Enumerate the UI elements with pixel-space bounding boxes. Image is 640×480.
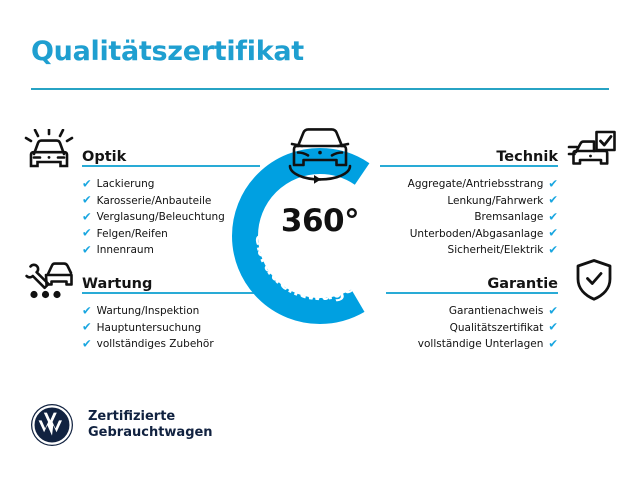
list-item: ✔Innenraum: [82, 242, 232, 259]
list-item-label: Unterboden/Abgasanlage: [410, 226, 544, 243]
section-technik: Technik Aggregate/Antriebsstrang✔ Lenkun…: [398, 141, 558, 259]
check-icon: ✔: [82, 305, 92, 317]
list-item-label: Lackierung: [97, 176, 155, 193]
section-optik-title: Optik: [82, 149, 126, 165]
section-garantie-divider: [398, 292, 558, 294]
vw-logo-icon: [29, 402, 75, 448]
list-item-label: vollständiges Zubehör: [97, 336, 214, 353]
car-checkbox-icon: [567, 129, 617, 179]
check-icon: ✔: [82, 195, 92, 207]
check-icon: ✔: [548, 195, 558, 207]
footer-line-1: Zertifizierte: [88, 409, 175, 424]
list-item-label: Lenkung/Fahrwerk: [447, 193, 543, 210]
section-garantie-header: Garantie: [398, 268, 558, 294]
badge-center-text: 360°: [232, 203, 408, 239]
section-wartung-divider: [82, 292, 232, 294]
list-item-label: Bremsanlage: [474, 209, 543, 226]
check-icon: ✔: [548, 244, 558, 256]
list-item-label: Karosserie/Anbauteile: [97, 193, 212, 210]
list-item: Unterboden/Abgasanlage✔: [398, 226, 558, 243]
list-item: Bremsanlage✔: [398, 209, 558, 226]
check-icon: ✔: [548, 178, 558, 190]
footer-brand-text: Zertifizierte Gebrauchtwagen: [88, 409, 213, 441]
list-item: Sicherheit/Elektrik✔: [398, 242, 558, 259]
wrench-car-icon: [24, 257, 74, 307]
check-icon: ✔: [548, 211, 558, 223]
check-icon: ✔: [82, 338, 92, 350]
section-wartung-header: Wartung: [82, 268, 232, 294]
list-item: ✔Lackierung: [82, 176, 232, 193]
list-item-label: Felgen/Reifen: [97, 226, 168, 243]
list-item: Garantienachweis✔: [398, 303, 558, 320]
car-shine-icon: [24, 129, 74, 179]
check-icon: ✔: [82, 178, 92, 190]
list-item-label: vollständige Unterlagen: [418, 336, 544, 353]
certificate-page: Qualitätszertifikat: [0, 0, 640, 480]
list-item-label: Aggregate/Antriebsstrang: [408, 176, 544, 193]
list-item-label: Innenraum: [97, 242, 154, 259]
list-item-label: Qualitätszertifikat: [450, 320, 544, 337]
section-technik-title: Technik: [496, 149, 558, 165]
section-garantie: Garantie Garantienachweis✔ Qualitätszert…: [398, 268, 558, 353]
section-wartung: Wartung ✔Wartung/Inspektion ✔Hauptunters…: [82, 268, 232, 353]
list-item: ✔Wartung/Inspektion: [82, 303, 232, 320]
page-title: Qualitätszertifikat: [31, 36, 304, 67]
car-front-rotate-icon: [278, 122, 362, 194]
check-icon: ✔: [82, 322, 92, 334]
check-icon: ✔: [82, 228, 92, 240]
check-icon: ✔: [82, 211, 92, 223]
shield-check-icon: [574, 258, 614, 306]
list-item: ✔Karosserie/Anbauteile: [82, 193, 232, 210]
section-technik-list: Aggregate/Antriebsstrang✔ Lenkung/Fahrwe…: [398, 176, 558, 259]
list-item-label: Hauptuntersuchung: [97, 320, 202, 337]
section-optik: Optik ✔Lackierung ✔Karosserie/Anbauteile…: [82, 141, 232, 259]
list-item-label: Garantienachweis: [449, 303, 543, 320]
section-technik-divider: [398, 165, 558, 167]
list-item: ✔vollständiges Zubehör: [82, 336, 232, 353]
check-icon: ✔: [548, 228, 558, 240]
list-item-label: Wartung/Inspektion: [97, 303, 200, 320]
footer-line-2: Gebrauchtwagen: [88, 425, 213, 440]
section-wartung-title: Wartung: [82, 276, 152, 292]
title-divider: [31, 88, 609, 90]
list-item-label: Verglasung/Beleuchtung: [97, 209, 225, 226]
list-item: Lenkung/Fahrwerk✔: [398, 193, 558, 210]
section-optik-list: ✔Lackierung ✔Karosserie/Anbauteile ✔Verg…: [82, 176, 232, 259]
list-item: Aggregate/Antriebsstrang✔: [398, 176, 558, 193]
section-wartung-list: ✔Wartung/Inspektion ✔Hauptuntersuchung ✔…: [82, 303, 232, 353]
list-item: ✔Hauptuntersuchung: [82, 320, 232, 337]
check-icon: ✔: [82, 244, 92, 256]
section-optik-divider: [82, 165, 232, 167]
check-icon: ✔: [548, 338, 558, 350]
check-icon: ✔: [548, 305, 558, 317]
section-garantie-list: Garantienachweis✔ Qualitätszertifikat✔ v…: [398, 303, 558, 353]
footer-brand: Zertifizierte Gebrauchtwagen: [29, 402, 213, 448]
section-optik-header: Optik: [82, 141, 232, 167]
list-item: ✔Verglasung/Beleuchtung: [82, 209, 232, 226]
list-item: ✔Felgen/Reifen: [82, 226, 232, 243]
list-item: vollständige Unterlagen✔: [398, 336, 558, 353]
list-item: Qualitätszertifikat✔: [398, 320, 558, 337]
section-technik-header: Technik: [398, 141, 558, 167]
list-item-label: Sicherheit/Elektrik: [448, 242, 544, 259]
check-icon: ✔: [548, 322, 558, 334]
section-garantie-title: Garantie: [487, 276, 558, 292]
